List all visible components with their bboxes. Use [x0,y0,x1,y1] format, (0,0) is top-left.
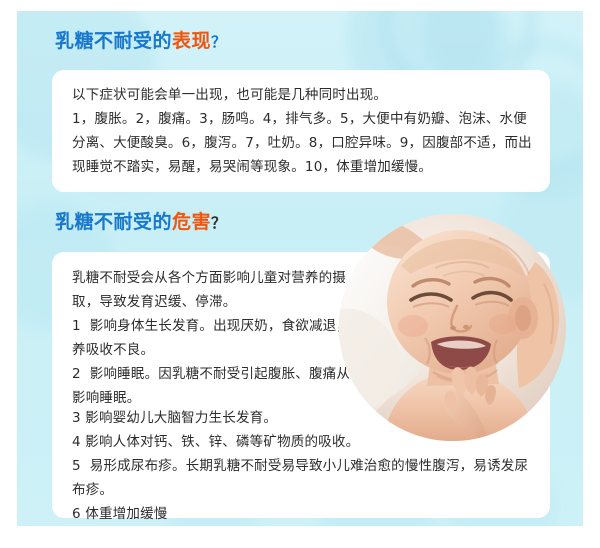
section-1-title-question-mark: ？ [211,33,227,51]
section-1-title: 乳糖不耐受的表现？ [55,32,227,51]
section-1-body-text: 以下症状可能会单一出现，也可能是几种同时出现。 1，腹胀。2，腹痛。3，肠鸣。4… [72,83,534,179]
section-1-title-highlight: 表现 [172,30,211,52]
crying-baby-photo [339,214,566,441]
section-2-body-text-top: 乳糖不耐受会从各个方面影响儿童对营养的摄取，导致发育迟缓、停滞。 1 影响身体生… [72,266,372,410]
section-1-title-prefix: 乳糖不耐受的 [55,30,172,52]
section-2-title-prefix: 乳糖不耐受的 [55,211,172,233]
section-2-title-question-mark: ？ [211,214,227,232]
section-2-title: 乳糖不耐受的危害？ [55,213,227,232]
infographic-page: 乳糖不耐受的表现？ 以下症状可能会单一出现，也可能是几种同时出现。 1，腹胀。2… [0,0,600,548]
section-1-card: 以下症状可能会单一出现，也可能是几种同时出现。 1，腹胀。2，腹痛。3，肠鸣。4… [52,70,550,192]
section-2-title-highlight: 危害 [172,211,211,233]
